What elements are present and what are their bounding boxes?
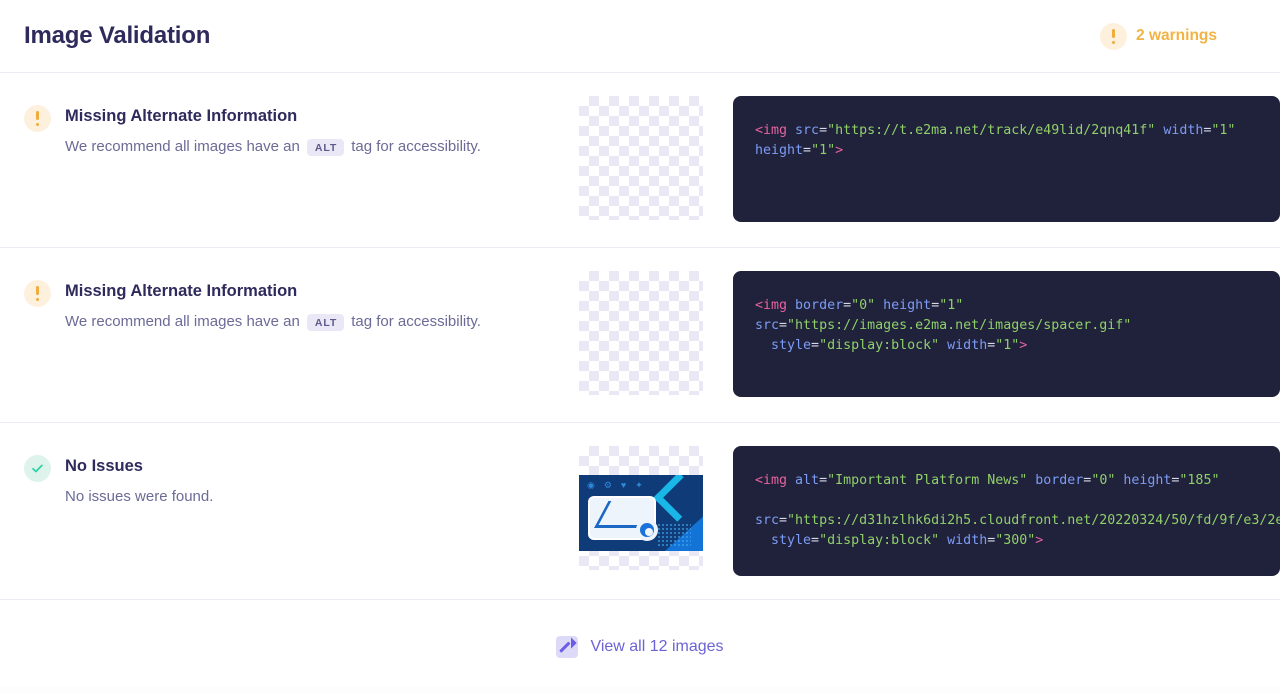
page-title: Image Validation [24, 22, 210, 50]
warning-exclamation-icon [24, 280, 51, 307]
validation-row-list: Missing Alternate InformationWe recommen… [0, 73, 1280, 600]
check-glyph [30, 461, 45, 476]
status-badge: 2 warnings [1100, 23, 1256, 50]
alt-tag-badge: ALT [307, 314, 344, 332]
code-cell: <img alt="Important Platform News" borde… [703, 446, 1280, 576]
row-info: No IssuesNo issues were found. [24, 446, 579, 508]
image-validation-panel: Image Validation 2 warnings Missing Alte… [0, 0, 1280, 686]
code-cell: <img src="https://t.e2ma.net/track/e49li… [703, 96, 1280, 222]
row-description: We recommend all images have anALTtag fo… [65, 136, 481, 158]
row-title: Missing Alternate Information [65, 106, 481, 127]
row-text: Missing Alternate InformationWe recommen… [65, 280, 481, 333]
row-description-text: We recommend all images have an [65, 136, 300, 158]
thumbnail-cell [579, 96, 703, 220]
panel-footer: View all 12 images [0, 600, 1280, 693]
code-cell: <img border="0" height="1" src="https://… [703, 271, 1280, 397]
external-link-icon[interactable] [556, 636, 578, 658]
image-thumbnail[interactable] [579, 271, 703, 395]
table-row[interactable]: No IssuesNo issues were found.◉⚙♥✦<img a… [0, 423, 1280, 600]
row-title: Missing Alternate Information [65, 281, 481, 302]
row-description: No issues were found. [65, 486, 213, 508]
view-all-images-link[interactable]: View all 12 images [590, 638, 723, 656]
image-html-snippet[interactable]: <img src="https://t.e2ma.net/track/e49li… [733, 96, 1280, 222]
image-html-snippet[interactable]: <img border="0" height="1" src="https://… [733, 271, 1280, 397]
image-thumbnail[interactable]: ◉⚙♥✦ [579, 446, 703, 570]
warning-exclamation-icon [1100, 23, 1127, 50]
row-description-text-suffix: tag for accessibility. [351, 311, 481, 333]
image-html-snippet[interactable]: <img alt="Important Platform News" borde… [733, 446, 1280, 576]
email-newsletter-graphic: ◉⚙♥✦ [579, 475, 703, 551]
alt-tag-badge: ALT [307, 139, 344, 157]
table-row[interactable]: Missing Alternate InformationWe recommen… [0, 73, 1280, 248]
row-description-text: No issues were found. [65, 486, 213, 508]
row-description-text-suffix: tag for accessibility. [351, 136, 481, 158]
check-circle-icon [24, 455, 51, 482]
row-description-text: We recommend all images have an [65, 311, 300, 333]
thumbnail-cell [579, 271, 703, 395]
row-text: No IssuesNo issues were found. [65, 455, 213, 508]
panel-header: Image Validation 2 warnings [0, 0, 1280, 73]
row-info: Missing Alternate InformationWe recommen… [24, 96, 579, 158]
row-description: We recommend all images have anALTtag fo… [65, 311, 481, 333]
row-info: Missing Alternate InformationWe recommen… [24, 271, 579, 333]
warning-exclamation-icon [24, 105, 51, 132]
row-title: No Issues [65, 456, 213, 477]
image-thumbnail[interactable] [579, 96, 703, 220]
thumbnail-cell: ◉⚙♥✦ [579, 446, 703, 570]
warning-count-label: 2 warnings [1136, 27, 1217, 45]
table-row[interactable]: Missing Alternate InformationWe recommen… [0, 248, 1280, 423]
row-text: Missing Alternate InformationWe recommen… [65, 105, 481, 158]
